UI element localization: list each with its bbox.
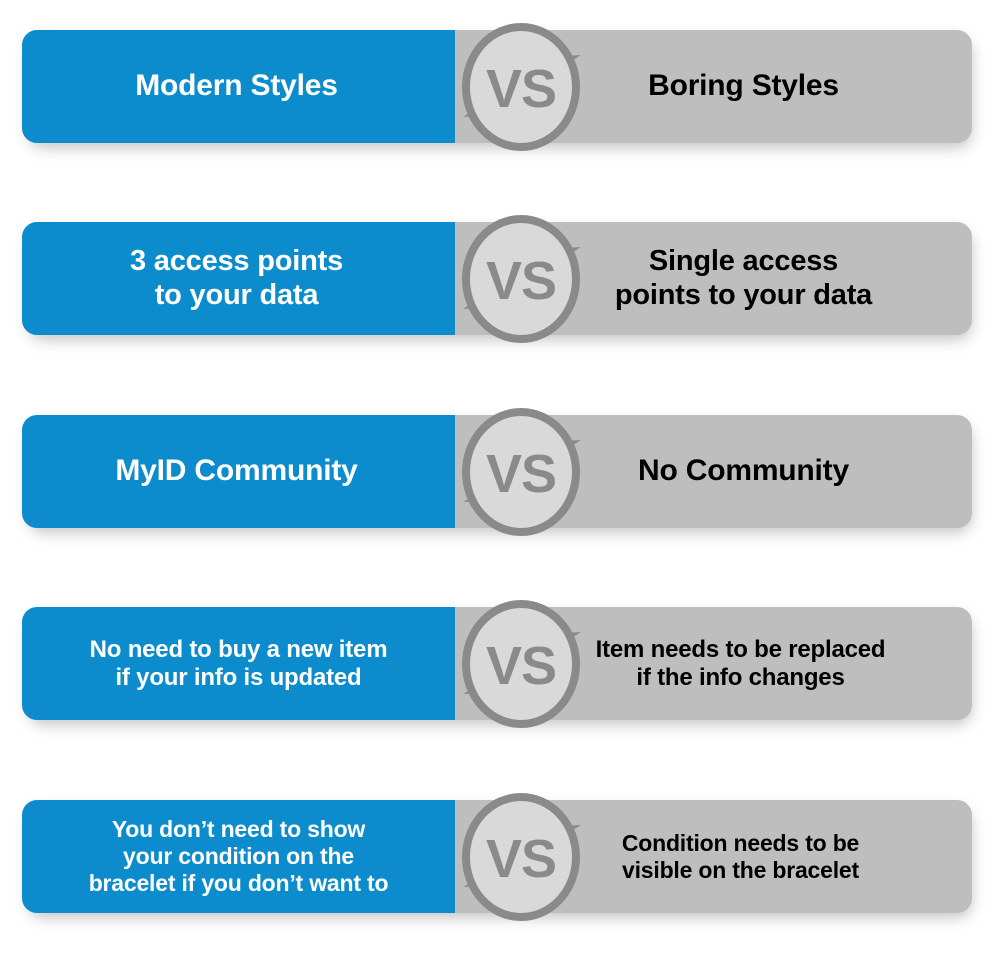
right-option-text: Boring Styles bbox=[648, 69, 839, 104]
left-option-text: Modern Styles bbox=[135, 69, 337, 104]
vs-label: VS bbox=[486, 444, 556, 504]
left-option-panel[interactable]: Modern Styles bbox=[22, 30, 455, 143]
comparison-infographic: Modern Styles Boring Styles VS 3 access … bbox=[0, 0, 993, 954]
left-option-text: No need to buy a new item if your info i… bbox=[90, 636, 388, 692]
left-option-text: You don’t need to show your condition on… bbox=[89, 816, 389, 896]
vs-badge: VS bbox=[433, 402, 609, 542]
left-option-panel[interactable]: 3 access points to your data bbox=[22, 222, 455, 335]
left-option-panel[interactable]: You don’t need to show your condition on… bbox=[22, 800, 455, 913]
right-option-text: Condition needs to be visible on the bra… bbox=[622, 830, 859, 883]
left-option-text: MyID Community bbox=[115, 454, 357, 489]
left-option-panel[interactable]: MyID Community bbox=[22, 415, 455, 528]
comparison-row: MyID Community No Community VS bbox=[22, 415, 972, 528]
vs-badge: VS bbox=[433, 594, 609, 734]
vs-badge: VS bbox=[433, 787, 609, 927]
right-option-text: Item needs to be replaced if the info ch… bbox=[596, 636, 886, 692]
vs-label: VS bbox=[486, 636, 556, 696]
right-option-text: Single access points to your data bbox=[615, 245, 872, 312]
vs-badge: VS bbox=[433, 209, 609, 349]
comparison-row: Modern Styles Boring Styles VS bbox=[22, 30, 972, 143]
comparison-row: You don’t need to show your condition on… bbox=[22, 800, 972, 913]
comparison-row: 3 access points to your data Single acce… bbox=[22, 222, 972, 335]
comparison-row: No need to buy a new item if your info i… bbox=[22, 607, 972, 720]
vs-badge: VS bbox=[433, 17, 609, 157]
left-option-text: 3 access points to your data bbox=[130, 245, 343, 312]
left-option-panel[interactable]: No need to buy a new item if your info i… bbox=[22, 607, 455, 720]
right-option-text: No Community bbox=[638, 454, 849, 489]
vs-label: VS bbox=[486, 829, 556, 889]
vs-label: VS bbox=[486, 59, 556, 119]
vs-label: VS bbox=[486, 251, 556, 311]
